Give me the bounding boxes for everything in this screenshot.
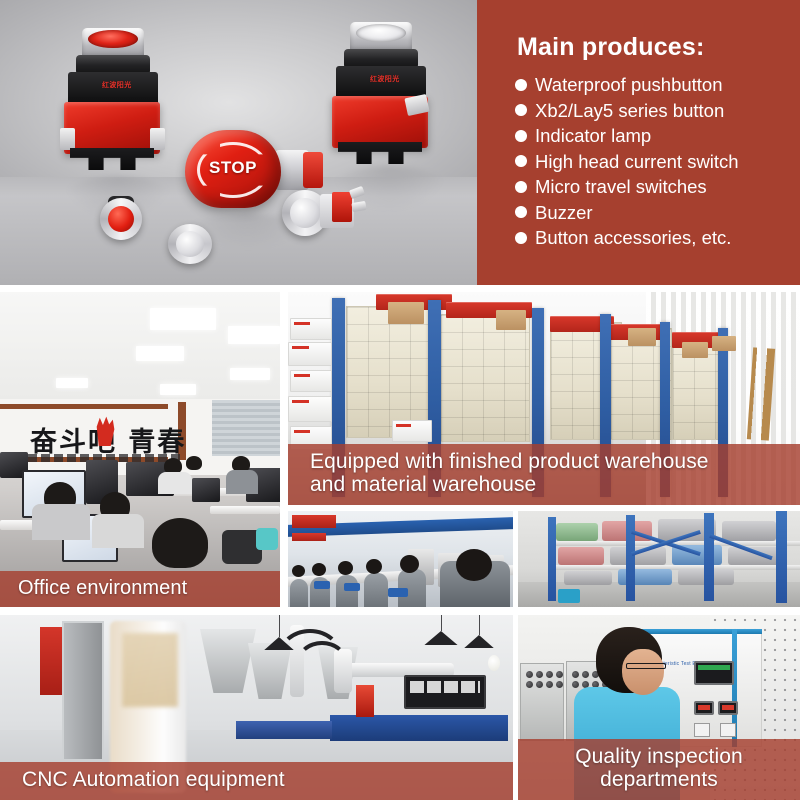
produces-list: Waterproof pushbutton Xb2/Lay5 series bu…: [515, 72, 800, 251]
rack-upright: [626, 515, 635, 601]
produces-item: Waterproof pushbutton: [515, 72, 800, 98]
worker-head: [338, 561, 353, 575]
produces-item-label: High head current switch: [535, 149, 739, 175]
socket: [720, 723, 736, 737]
warehouse-panel: Equipped with finished product warehouse…: [288, 292, 800, 505]
bulb-icon: [488, 655, 500, 671]
material-storage-panel: [518, 511, 800, 607]
metal-button-with-body: [282, 186, 362, 238]
product-carton: [290, 318, 332, 340]
worker: [290, 579, 308, 607]
socket: [694, 723, 710, 737]
ceiling-light: [136, 346, 184, 361]
person-torso: [92, 514, 144, 548]
cable-hose: [296, 641, 348, 685]
water-bottle: [256, 528, 278, 550]
worker-head: [292, 565, 305, 577]
blurred-wrap: [122, 633, 178, 707]
mounting-legs: [338, 142, 422, 164]
produces-item-label: Indicator lamp: [535, 123, 651, 149]
produces-item-label: Xb2/Lay5 series button: [535, 98, 724, 124]
mounting-legs: [70, 148, 154, 170]
door-frame: [62, 621, 104, 761]
produces-item: Xb2/Lay5 series button: [515, 98, 800, 124]
hero-product-photo: 红波阳光 红波阳光 STOP: [0, 0, 477, 285]
cardboard-box: [712, 336, 736, 351]
product-collage-page: 红波阳光 红波阳光 STOP: [0, 0, 800, 800]
digital-meter: [694, 661, 734, 685]
shelf-panel: [346, 306, 430, 438]
stored-goods: [564, 571, 612, 585]
cardboard-box: [388, 302, 424, 324]
frame-rail: [636, 629, 762, 634]
produces-item: High head current switch: [515, 149, 800, 175]
brand-mark: 红波阳光: [370, 76, 418, 92]
lamp-shade: [464, 635, 494, 648]
qc-caption: Quality inspection departments: [518, 739, 800, 800]
bucket: [558, 589, 580, 603]
shelf-panel: [440, 314, 530, 442]
worker-head: [400, 555, 419, 573]
brand-mark: 红波阳光: [102, 82, 150, 98]
digital-meter: [694, 701, 714, 715]
person-torso: [158, 472, 192, 494]
lamp-shade: [264, 637, 294, 650]
product-carton: [392, 420, 432, 442]
red-contact-block: [64, 102, 160, 154]
person-torso: [226, 470, 258, 494]
warehouse-caption: Equipped with finished product warehouse…: [288, 444, 800, 505]
lamp-shade: [424, 631, 458, 645]
monitor: [192, 478, 220, 502]
worker-head: [456, 549, 492, 581]
line-sign: [292, 515, 336, 528]
worker-head: [312, 563, 326, 576]
rack-upright: [548, 517, 556, 601]
bullet-icon: [515, 206, 527, 218]
line-sign: [292, 533, 326, 541]
pendant-lamp: [424, 631, 458, 655]
rack-upright: [704, 513, 714, 601]
red-insert: [332, 192, 352, 222]
produces-item-label: Button accessories, etc.: [535, 225, 731, 251]
main-produces-panel: Main produces: Waterproof pushbutton Xb2…: [477, 0, 800, 285]
stored-goods: [722, 521, 776, 541]
square-pushbutton-clear: 红波阳光: [330, 22, 440, 167]
red-lens: [88, 30, 138, 48]
screen-content: [410, 681, 480, 693]
person-head: [152, 518, 208, 568]
worker: [336, 575, 358, 607]
warehouse-caption-line1: Equipped with finished product warehouse: [310, 450, 786, 474]
ceiling-light: [56, 378, 88, 388]
worker: [364, 573, 388, 607]
warehouse-caption-line2: and material warehouse: [310, 473, 786, 497]
ceiling-light: [150, 308, 216, 330]
worker-head: [366, 559, 382, 574]
bullet-icon: [515, 130, 527, 142]
person-torso: [32, 504, 90, 540]
person-head: [186, 456, 202, 470]
product-carton: [290, 370, 332, 392]
produces-item: Buzzer: [515, 200, 800, 226]
machine-base: [330, 715, 508, 741]
product-carton: [288, 342, 332, 366]
wood-trim: [0, 404, 168, 409]
cardboard-box: [496, 310, 526, 330]
stop-label: STOP: [201, 158, 265, 178]
bullet-icon: [515, 104, 527, 116]
cnc-automation-panel: CNC Automation equipment: [0, 615, 513, 800]
metal-face: [176, 231, 204, 257]
produces-title: Main produces:: [517, 33, 800, 62]
shelf-beam: [552, 565, 800, 570]
clear-lens: [356, 24, 406, 42]
hydraulic-cylinder: [356, 685, 374, 717]
production-line-panel: [288, 511, 513, 607]
round-indicator-red: [100, 198, 142, 240]
ceiling-light: [160, 384, 196, 395]
cardboard-box: [628, 328, 656, 346]
stored-goods: [556, 523, 598, 541]
glasses-icon: [626, 663, 666, 669]
parts-bin: [344, 583, 360, 591]
bullet-icon: [515, 232, 527, 244]
terminal-tab: [150, 128, 165, 150]
control-knobs: [526, 671, 563, 688]
lamp-wire: [479, 615, 480, 635]
lamp-wire: [441, 615, 442, 631]
pendant-lamp: [464, 635, 494, 657]
product-carton: [288, 396, 332, 422]
parts-bin: [314, 581, 330, 589]
window-blind: [212, 400, 280, 456]
produces-item-label: Waterproof pushbutton: [535, 72, 723, 98]
metal-face: [290, 198, 319, 227]
office-environment-panel: 奋斗吧 青春 Office environment: [0, 292, 280, 607]
round-metal-button: [168, 224, 212, 264]
cardboard-box: [682, 342, 708, 358]
digital-meter: [718, 701, 738, 715]
pendant-lamp: [264, 637, 294, 659]
produces-item: Micro travel switches: [515, 174, 800, 200]
technician-face: [622, 649, 664, 695]
quality-inspection-panel: Characteristic Test Equipment Quality in…: [518, 615, 800, 800]
bullet-icon: [515, 155, 527, 167]
ceiling-light: [230, 368, 270, 380]
rack-upright: [776, 511, 787, 603]
safety-poster: [40, 627, 62, 695]
qc-caption-line1: Quality inspection: [528, 745, 790, 769]
bullet-icon: [515, 181, 527, 193]
qc-caption-line2: departments: [528, 768, 790, 792]
rear-contact-block: [303, 152, 323, 188]
parts-bin: [388, 588, 408, 597]
produces-item-label: Micro travel switches: [535, 174, 707, 200]
ceiling-light: [228, 326, 280, 344]
terminal-tab: [60, 128, 75, 150]
produces-item: Indicator lamp: [515, 123, 800, 149]
square-pushbutton-red: 红波阳光: [62, 28, 166, 173]
stored-goods: [558, 547, 604, 565]
lamp-wire: [279, 615, 280, 637]
bullet-icon: [515, 79, 527, 91]
mushroom-cap: STOP: [185, 130, 281, 208]
cnc-caption: CNC Automation equipment: [0, 762, 513, 800]
office-caption: Office environment: [0, 571, 280, 607]
desk: [210, 506, 280, 514]
machine-base: [236, 721, 332, 739]
produces-item: Button accessories, etc.: [515, 225, 800, 251]
produces-item-label: Buzzer: [535, 200, 593, 226]
